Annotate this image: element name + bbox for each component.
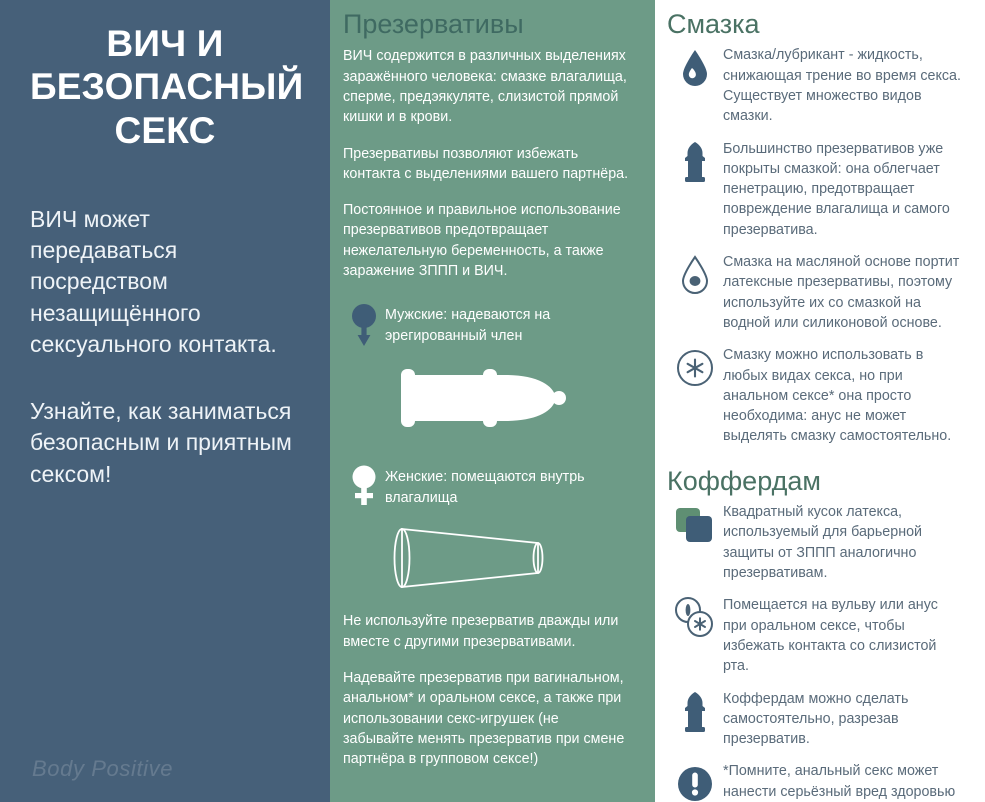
condom-type-male: Мужские: надеваются на эрегированный чле…: [343, 301, 633, 349]
right-panel: Смазка Смазка/лубрикант - жидкость, сниж…: [655, 0, 985, 802]
fact-anal-warning-text: *Помните, анальный секс может нанести се…: [723, 760, 963, 802]
fact-dam-placement-text: Помещается на вульву или анус при оральн…: [723, 594, 963, 676]
exclamation-circle-icon: [667, 760, 723, 802]
condom-type-male-label: Мужские: надеваются на эрегированный чле…: [385, 301, 633, 346]
water-drop-filled-icon: [667, 44, 723, 90]
section-heading-lubricant: Смазка: [667, 8, 963, 40]
condoms-paragraph-3: Постоянное и правильное использование пр…: [343, 200, 633, 281]
fact-oil-based-lube-text: Смазка на масляной основе портит латексн…: [723, 251, 963, 333]
fact-oil-based-lube: Смазка на масляной основе портит латексн…: [667, 251, 963, 333]
fact-anal-warning: *Помните, анальный секс может нанести се…: [667, 760, 963, 802]
fact-diy-dam: Коффердам можно сделать самостоятельно, …: [667, 688, 963, 750]
left-intro-paragraph: ВИЧ может передаваться посредством незащ…: [28, 204, 302, 360]
fact-dam-definition: Квадратный кусок латекса, используемый д…: [667, 501, 963, 583]
watermark-brand: Body Positive: [32, 756, 173, 782]
fact-dam-definition-text: Квадратный кусок латекса, используемый д…: [723, 501, 963, 583]
fact-prelubricated-condoms-text: Большинство презервативов уже покрыты см…: [723, 138, 963, 240]
left-panel: ВИЧ И БЕЗОПАСНЫЙ СЕКС ВИЧ может передава…: [0, 0, 330, 802]
middle-panel: Презервативы ВИЧ содержится в различных …: [330, 0, 655, 802]
section-heading-dental-dam: Коффердам: [667, 465, 963, 497]
page-title: ВИЧ И БЕЗОПАСНЫЙ СЕКС: [28, 22, 302, 152]
male-condom-art: [343, 353, 633, 443]
vulva-anus-circles-icon: [667, 594, 723, 640]
fact-anal-lube-text: Смазку можно использовать в любых видах …: [723, 344, 963, 446]
condoms-note-1: Не используйте презерватив дважды или вм…: [343, 611, 633, 652]
condom-type-female-label: Женские: помещаются внутрь влагалища: [385, 463, 633, 508]
female-condom-art: [343, 521, 633, 595]
condoms-note-2: Надевайте презерватив при вагинальном, а…: [343, 668, 633, 769]
male-symbol-icon: [343, 301, 385, 349]
female-symbol-icon: [343, 463, 385, 511]
fact-diy-dam-text: Коффердам можно сделать самостоятельно, …: [723, 688, 963, 750]
fact-dam-placement: Помещается на вульву или анус при оральн…: [667, 594, 963, 676]
fact-lubricant-definition-text: Смазка/лубрикант - жидкость, снижающая т…: [723, 44, 963, 126]
water-drop-outline-icon: [667, 251, 723, 297]
condoms-paragraph-2: Презервативы позволяют избежать контакта…: [343, 144, 633, 185]
condoms-usage-notes: Не используйте презерватив дважды или вм…: [343, 611, 633, 769]
infographic-poster: ВИЧ И БЕЗОПАСНЫЙ СЕКС ВИЧ может передава…: [0, 0, 985, 802]
fact-prelubricated-condoms: Большинство презервативов уже покрыты см…: [667, 138, 963, 240]
fact-anal-lube: Смазку можно использовать в любых видах …: [667, 344, 963, 446]
dental-dam-squares-icon: [667, 501, 723, 547]
fact-lubricant-definition: Смазка/лубрикант - жидкость, снижающая т…: [667, 44, 963, 126]
condom-type-female: Женские: помещаются внутрь влагалища: [343, 463, 633, 511]
condom-filled-icon: [667, 688, 723, 734]
left-callout-paragraph: Узнайте, как заниматься безопасным и при…: [28, 396, 302, 490]
anus-circle-icon: [667, 344, 723, 390]
condoms-paragraph-1: ВИЧ содержится в различных выделениях за…: [343, 46, 633, 127]
condom-filled-icon: [667, 138, 723, 184]
section-heading-condoms: Презервативы: [343, 8, 633, 40]
